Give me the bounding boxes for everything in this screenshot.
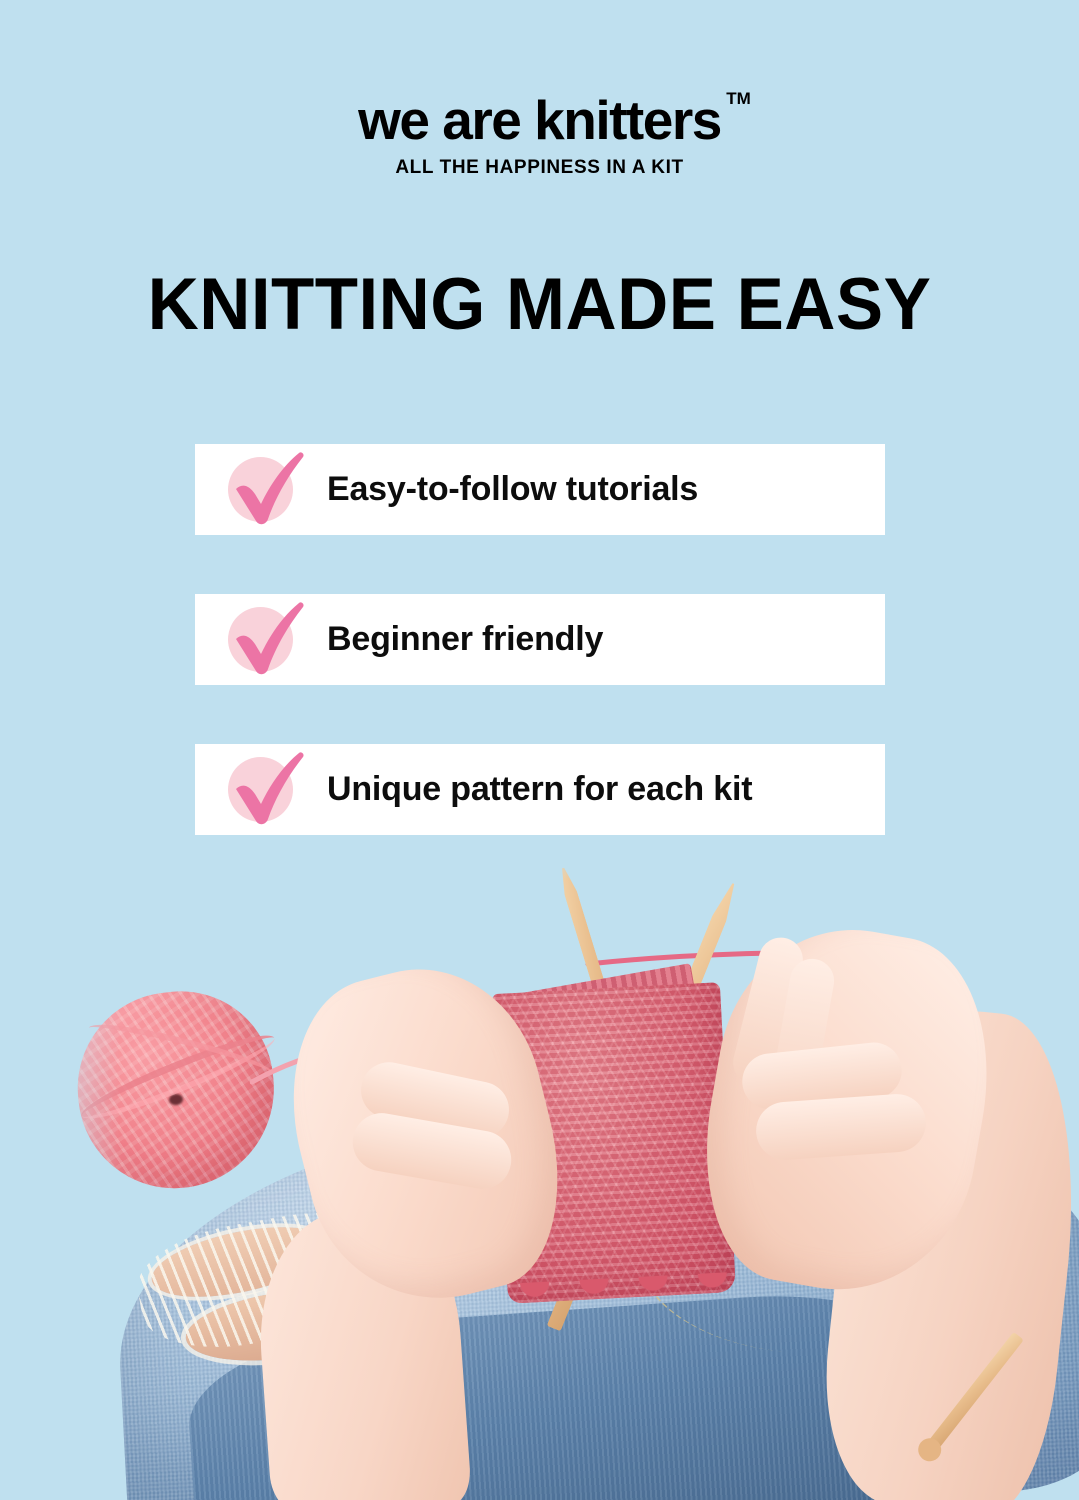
feature-label-2: Beginner friendly [327, 620, 603, 659]
check-icon [223, 595, 307, 683]
photo-edge-fade-top [0, 840, 1079, 880]
hero-photo [0, 840, 1079, 1500]
poster-page: we are knittersTM ALL THE HAPPINESS IN A… [0, 0, 1079, 1500]
check-icon [223, 445, 307, 533]
check-icon [223, 745, 307, 833]
photo-edge-fade-left [0, 840, 120, 1500]
brand-wordmark: we are knittersTM [358, 92, 721, 148]
check-icon-wrap-3 [219, 744, 309, 835]
brand-header: we are knittersTM ALL THE HAPPINESS IN A… [0, 92, 1079, 179]
feature-list: Easy-to-follow tutorials Beginner friend… [195, 444, 885, 835]
feature-label-3: Unique pattern for each kit [327, 770, 752, 809]
finger [754, 1092, 928, 1162]
feature-card-3: Unique pattern for each kit [195, 744, 885, 835]
page-title: KNITTING MADE EASY [16, 268, 1063, 341]
feature-label-1: Easy-to-follow tutorials [327, 470, 698, 509]
feature-card-2: Beginner friendly [195, 594, 885, 685]
check-icon-wrap-2 [219, 594, 309, 685]
trademark-symbol: TM [726, 90, 751, 107]
brand-wordmark-text: we are knitters [358, 89, 721, 151]
brand-tagline: ALL THE HAPPINESS IN A KIT [0, 157, 1079, 179]
feature-card-1: Easy-to-follow tutorials [195, 444, 885, 535]
check-icon-wrap-1 [219, 444, 309, 535]
